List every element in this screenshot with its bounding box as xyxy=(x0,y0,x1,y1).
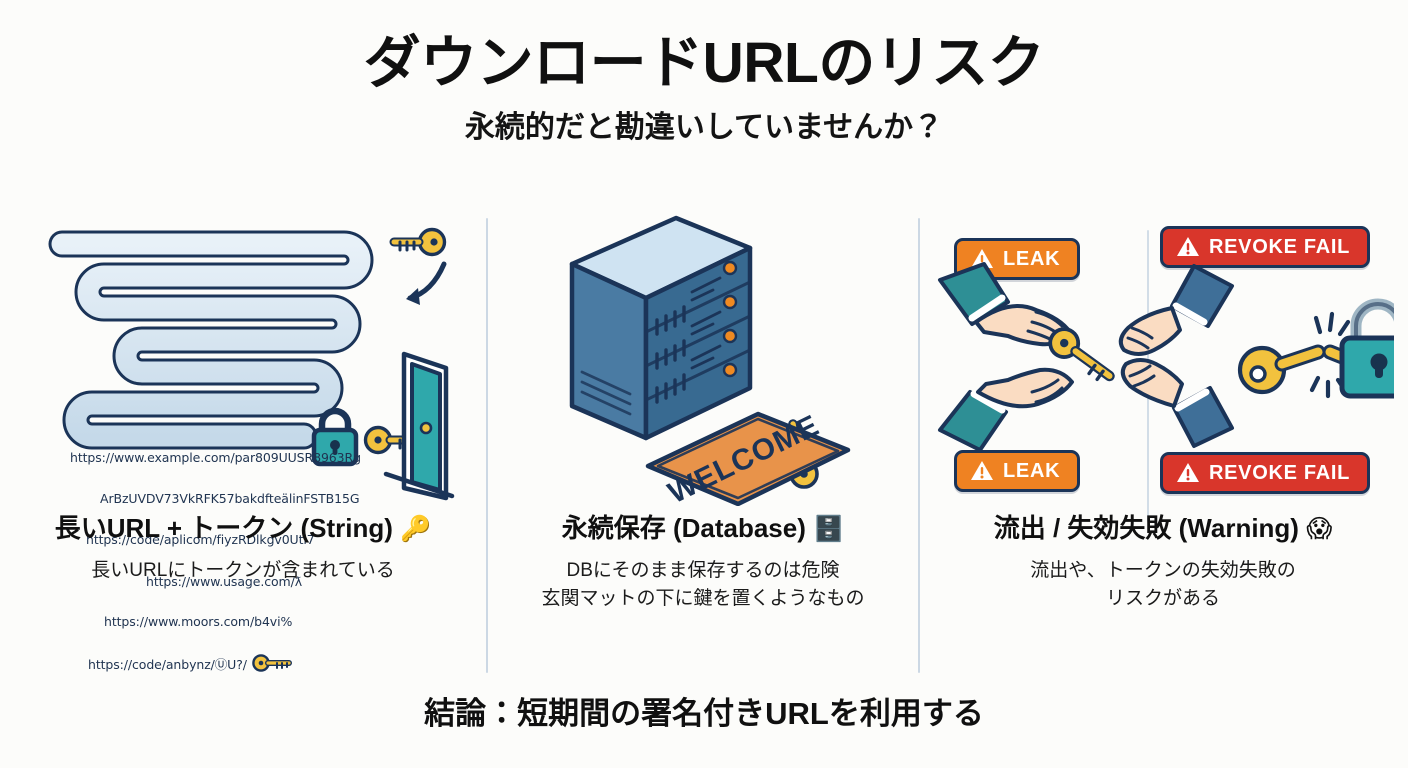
curved-arrow-icon xyxy=(406,264,444,305)
caption-title-text: 永続保存 (Database) xyxy=(562,513,806,543)
server-mat-svg: WELCOME xyxy=(500,206,906,506)
columns-container: https://www.example.com/par809UUSR8963Rg… xyxy=(0,206,1408,676)
leak-revoke-svg xyxy=(932,206,1394,506)
key-emoji-icon: 🔑 xyxy=(400,515,431,543)
caption-title: 長いURL + トークン (String) 🔑 xyxy=(14,512,472,545)
caption-persistent-storage: 永続保存 (Database) 🗄️ DBにそのまま保存するのは危険 玄関マット… xyxy=(500,512,906,612)
column-divider-2 xyxy=(918,218,920,673)
server-rack-icon xyxy=(572,218,750,438)
header: ダウンロードURLのリスク 永続的だと勘違いしていませんか？ xyxy=(0,34,1408,144)
column-long-url-token: https://www.example.com/par809UUSR8963Rg… xyxy=(14,206,472,676)
illustration-server-mat: WELCOME xyxy=(500,206,906,506)
caption-leak-revoke: 流出 / 失効失敗 (Warning) 😱 流出や、トークンの失効失敗の リスク… xyxy=(932,512,1394,612)
caption-sub-line: 長いURLにトークンが含まれている xyxy=(14,557,472,585)
caption-title-text: 流出 / 失効失敗 (Warning) xyxy=(994,513,1299,543)
column-divider-1 xyxy=(486,218,488,673)
url-row: ArBzUVDV73VkRFK57bakdfteälinFSTB15G xyxy=(100,485,359,511)
url-row: https://www.moors.com/b4vi% xyxy=(104,608,292,634)
caption-sub-line: 流出や、トークンの失効失敗の xyxy=(932,557,1394,585)
key-icon xyxy=(252,654,294,672)
hands-passing-key-icon xyxy=(940,264,1232,450)
illustration-url-snake: https://www.example.com/par809UUSR8963Rg… xyxy=(14,206,472,506)
padlock-icon xyxy=(1342,304,1394,396)
page-title: ダウンロードURLのリスク xyxy=(0,34,1408,94)
caption-sub-line: リスクがある xyxy=(932,585,1394,613)
scream-emoji-icon: 😱 xyxy=(1306,515,1332,543)
caption-sub-line: 玄関マットの下に鍵を置くようなもの xyxy=(500,585,906,613)
url-row: https://www.example.com/par809UUSR8963Rg xyxy=(70,444,361,470)
url-row-text: https://code/anbynz/ⓊU?/ xyxy=(88,654,247,673)
column-persistent-storage: WELCOME 永続保存 (Database) 🗄️ DBにそのまま保存するのは… xyxy=(500,206,906,676)
key-icon xyxy=(394,230,445,255)
infographic-root: ダウンロードURLのリスク 永続的だと勘違いしていませんか？ xyxy=(0,0,1408,768)
caption-sub: 長いURLにトークンが含まれている xyxy=(14,557,472,585)
column-leak-revoke: LEAK LEAK xyxy=(932,206,1394,676)
caption-sub-line: DBにそのまま保存するのは危険 xyxy=(500,557,906,585)
caption-sub: 流出や、トークンの失効失敗の リスクがある xyxy=(932,557,1394,612)
illustration-leak-revoke: LEAK LEAK xyxy=(932,206,1394,506)
database-emoji-icon: 🗄️ xyxy=(813,515,844,543)
caption-title-text: 長いURL + トークン (String) xyxy=(55,513,393,543)
url-row: https://code/anbynz/ⓊU?/ xyxy=(88,650,294,676)
caption-long-url-token: 長いURL + トークン (String) 🔑 長いURLにトークンが含まれてい… xyxy=(14,512,472,585)
caption-title: 永続保存 (Database) 🗄️ xyxy=(500,512,906,545)
door-icon xyxy=(386,354,452,498)
footer-conclusion: 結論：短期間の署名付きURLを利用する xyxy=(0,688,1408,733)
page-subtitle: 永続的だと勘違いしていませんか？ xyxy=(0,111,1408,144)
caption-sub: DBにそのまま保存するのは危険 玄関マットの下に鍵を置くようなもの xyxy=(500,557,906,612)
caption-title: 流出 / 失効失敗 (Warning) 😱 xyxy=(932,512,1394,545)
